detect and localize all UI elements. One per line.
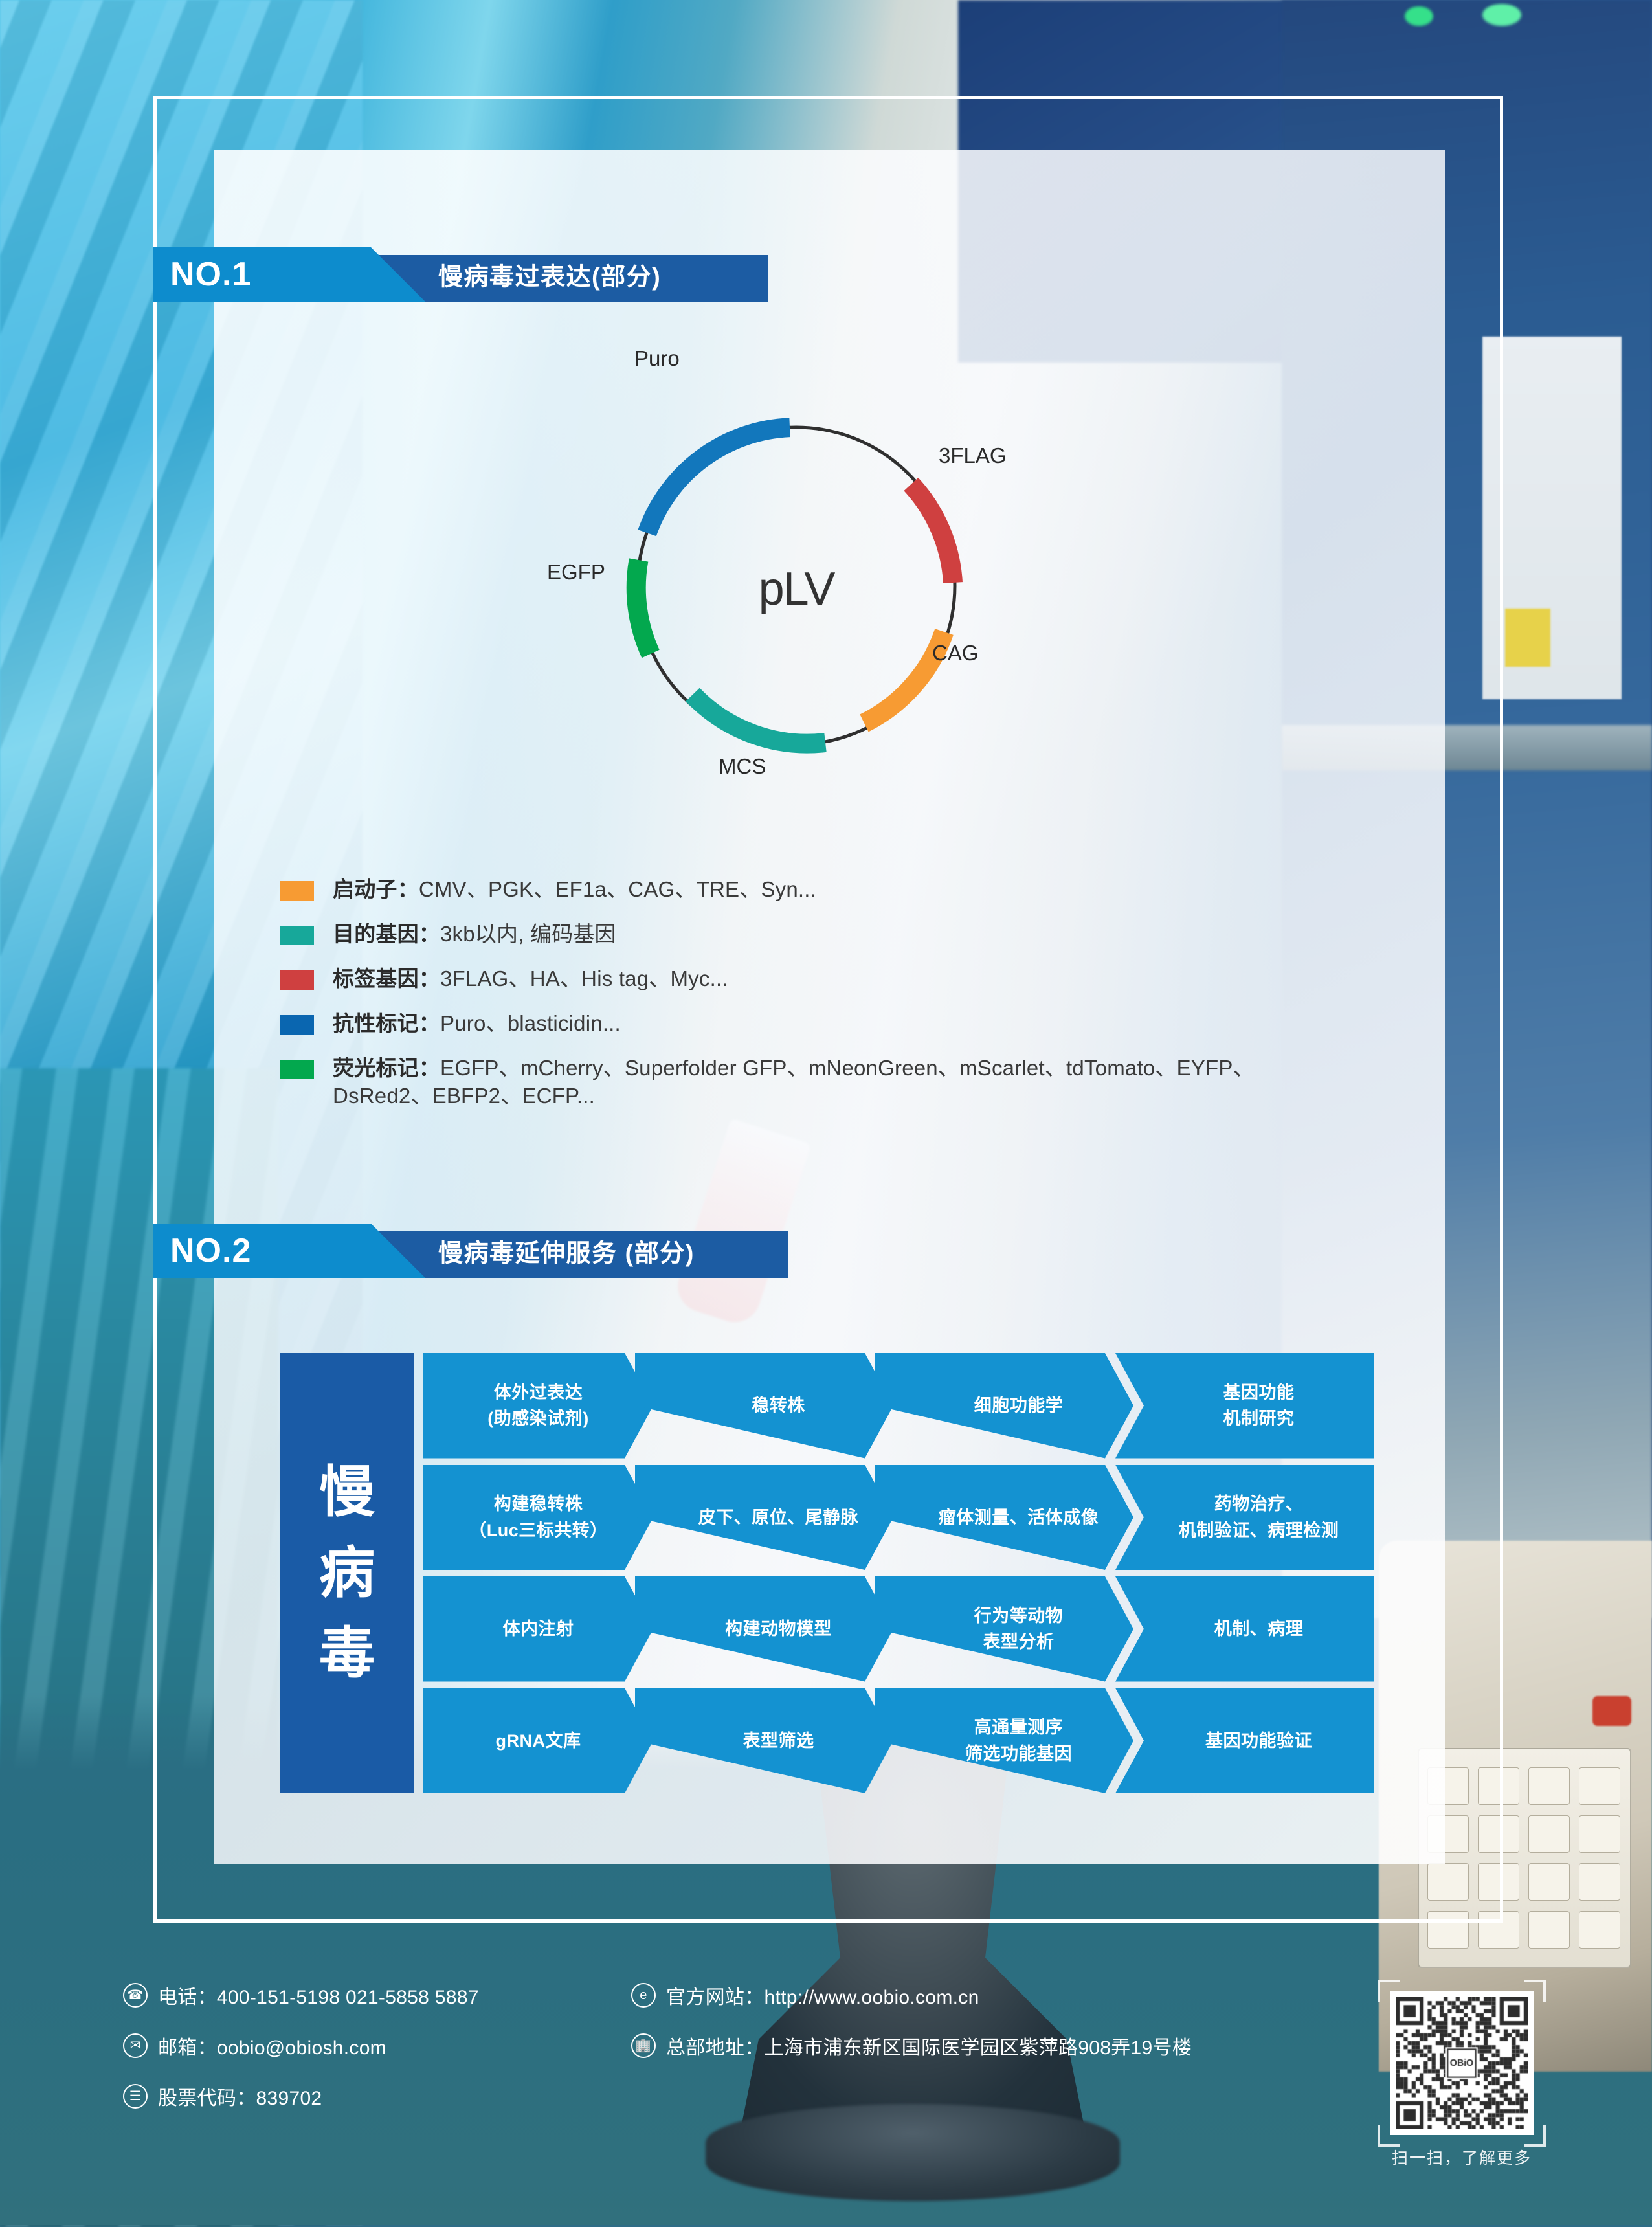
background-instrument-key	[1579, 1767, 1620, 1805]
flow-step-line: 基因功能	[1223, 1380, 1295, 1406]
background-yellow-box	[1505, 609, 1550, 667]
flow-step[interactable]: 瘤体测量、活体成像	[875, 1465, 1133, 1571]
flow-side-char-1: 慢	[319, 1452, 375, 1533]
flow-step-line: 机制、病理	[1214, 1616, 1304, 1642]
flow-step[interactable]: 表型筛选	[635, 1688, 893, 1794]
background-instrument-key	[1528, 1911, 1570, 1949]
background-instrument-key	[1528, 1767, 1570, 1805]
background-whiteboard	[1482, 337, 1622, 699]
legend-item: 启动子：CMV、PGK、EF1a、CAG、TRE、Syn...	[280, 875, 1380, 904]
plasmid-label-egfp: EGFP	[547, 560, 605, 585]
legend-label-promoter: 启动子：	[333, 877, 419, 901]
plasmid-feature-mcs	[693, 695, 825, 744]
footer-website-text[interactable]: 官方网站：http://www.oobio.com.cn	[666, 1981, 979, 2009]
flow-row: 构建稳转株（Luc三标共转）皮下、原位、尾静脉瘤体测量、活体成像药物治疗、机制验…	[423, 1465, 1374, 1571]
service-flow-chart: 慢 病 毒 体外过表达(助感染试剂)稳转株细胞功能学基因功能机制研究构建稳转株（…	[280, 1353, 1374, 1793]
footer-email-text: 邮箱：oobio@obiosh.com	[158, 2031, 386, 2060]
flow-step[interactable]: 体内注射	[423, 1576, 653, 1682]
legend-item: 抗性标记：Puro、blasticidin...	[280, 1009, 1380, 1038]
legend-text-fluorescent: 荧光标记：EGFP、mCherry、Superfolder GFP、mNeonG…	[333, 1054, 1343, 1111]
stock-icon: ☰	[123, 2084, 148, 2109]
flow-step-line: 机制验证、病理检测	[1179, 1517, 1339, 1544]
section-2-number: NO.2	[170, 1231, 251, 1270]
background-instrument-key	[1579, 1815, 1620, 1853]
qr-corner-brackets	[1378, 1980, 1546, 2169]
plasmid-svg	[570, 330, 1023, 848]
legend-label-fluorescent: 荧光标记：	[333, 1056, 440, 1080]
footer-address-text: 总部地址：上海市浦东新区国际医学园区紫萍路908弄19号楼	[666, 2031, 1192, 2060]
flow-step-line: 体内注射	[503, 1616, 574, 1642]
building-icon: 🏢	[631, 2033, 656, 2058]
flow-step[interactable]: 机制、病理	[1115, 1576, 1374, 1682]
legend-item: 荧光标记：EGFP、mCherry、Superfolder GFP、mNeonG…	[280, 1054, 1380, 1111]
legend-text-promoter: 启动子：CMV、PGK、EF1a、CAG、TRE、Syn...	[333, 875, 816, 904]
legend-value-tag-gene: 3FLAG、HA、His tag、Myc...	[440, 967, 728, 990]
flow-step-line: 构建稳转株	[494, 1491, 583, 1517]
qr-bracket-bl	[1378, 2125, 1400, 2147]
flow-step-line: （Luc三标共转）	[469, 1517, 608, 1544]
flow-step-line: 基因功能验证	[1205, 1728, 1312, 1754]
flow-step[interactable]: 体外过表达(助感染试剂)	[423, 1353, 653, 1459]
flow-step-line: 体外过表达	[494, 1380, 583, 1406]
flow-step[interactable]: 行为等动物表型分析	[875, 1576, 1133, 1682]
flow-step-line: 机制研究	[1223, 1405, 1295, 1432]
legend-label-target-gene: 目的基因：	[333, 922, 440, 946]
section-1-title: 慢病毒过表达(部分)	[438, 257, 661, 293]
footer-website-line[interactable]: e 官方网站：http://www.oobio.com.cn	[631, 1981, 1192, 2009]
section-2-title: 慢病毒延伸服务 (部分)	[438, 1233, 695, 1269]
legend-value-target-gene: 3kb以内, 编码基因	[440, 922, 616, 946]
phone-icon: ☎	[123, 1983, 148, 2008]
mail-icon: ✉	[123, 2033, 148, 2058]
flow-step-line: 高通量测序	[974, 1714, 1064, 1741]
background-instrument-key	[1528, 1815, 1570, 1853]
legend-text-resistance: 抗性标记：Puro、blasticidin...	[333, 1009, 621, 1038]
legend-value-promoter: CMV、PGK、EF1a、CAG、TRE、Syn...	[419, 877, 816, 901]
section-1-number: NO.1	[170, 255, 251, 294]
qr-code-block[interactable]: 扫一扫，了解更多	[1378, 1980, 1546, 2169]
qr-bracket-br	[1524, 2125, 1546, 2147]
flow-step[interactable]: 皮下、原位、尾静脉	[635, 1465, 893, 1571]
background-led-green-1	[1405, 6, 1433, 26]
plasmid-feature-3flag	[911, 484, 953, 583]
footer-stock-line: ☰ 股票代码：839702	[123, 2082, 479, 2110]
qr-bracket-tr	[1524, 1980, 1546, 2002]
legend-label-tag-gene: 标签基因：	[333, 967, 440, 990]
flow-step-line: 行为等动物	[974, 1603, 1064, 1629]
flow-step[interactable]: 构建稳转株（Luc三标共转）	[423, 1465, 653, 1571]
plasmid-label-mcs: MCS	[719, 754, 766, 779]
flow-step-line: 稳转株	[752, 1393, 805, 1419]
flow-step-line: 瘤体测量、活体成像	[939, 1505, 1099, 1531]
flow-step[interactable]: 基因功能验证	[1115, 1688, 1374, 1794]
footer-email-line: ✉ 邮箱：oobio@obiosh.com	[123, 2031, 479, 2060]
legend-swatch-tag-gene	[280, 970, 314, 990]
footer-address-line: 🏢 总部地址：上海市浦东新区国际医学园区紫萍路908弄19号楼	[631, 2031, 1192, 2060]
flow-step[interactable]: 高通量测序筛选功能基因	[875, 1688, 1133, 1794]
flow-row: 体外过表达(助感染试剂)稳转株细胞功能学基因功能机制研究	[423, 1353, 1374, 1459]
plasmid-label-puro: Puro	[634, 346, 680, 371]
flow-step[interactable]: gRNA文库	[423, 1688, 653, 1794]
plasmid-legend: 启动子：CMV、PGK、EF1a、CAG、TRE、Syn... 目的基因：3kb…	[280, 875, 1380, 1126]
footer-right-column: e 官方网站：http://www.oobio.com.cn 🏢 总部地址：上海…	[631, 1981, 1192, 2082]
flow-step-line: 表型筛选	[743, 1728, 814, 1754]
flow-step-line: 筛选功能基因	[965, 1741, 1072, 1767]
legend-swatch-promoter	[280, 881, 314, 901]
legend-item: 目的基因：3kb以内, 编码基因	[280, 920, 1380, 948]
flow-row: gRNA文库表型筛选高通量测序筛选功能基因基因功能验证	[423, 1688, 1374, 1794]
plasmid-map: pLV Puro 3FLAG CAG MCS EGFP	[570, 330, 1023, 848]
background-led-green-2	[1482, 4, 1521, 26]
background-instrument-key	[1579, 1911, 1620, 1949]
flow-step-line: 皮下、原位、尾静脉	[698, 1505, 859, 1531]
qr-bracket-tl	[1378, 1980, 1400, 2002]
legend-text-tag-gene: 标签基因：3FLAG、HA、His tag、Myc...	[333, 965, 728, 993]
footer-phone-text: 电话：400-151-5198 021-5858 5887	[158, 1981, 479, 2009]
flow-side-char-3: 毒	[319, 1613, 375, 1694]
flow-step[interactable]: 构建动物模型	[635, 1576, 893, 1682]
plasmid-feature-egfp	[636, 560, 651, 654]
legend-swatch-resistance	[280, 1015, 314, 1035]
footer-stock-text: 股票代码：839702	[158, 2082, 322, 2110]
legend-swatch-fluorescent	[280, 1060, 314, 1079]
flow-step-line: 细胞功能学	[974, 1393, 1064, 1419]
legend-text-target-gene: 目的基因：3kb以内, 编码基因	[333, 920, 616, 948]
footer-phone-line: ☎ 电话：400-151-5198 021-5858 5887	[123, 1981, 479, 2009]
plasmid-label-3flag: 3FLAG	[939, 443, 1007, 468]
flow-step-line: 药物治疗、	[1214, 1491, 1304, 1517]
flow-rows: 体外过表达(助感染试剂)稳转株细胞功能学基因功能机制研究构建稳转株（Luc三标共…	[423, 1353, 1374, 1793]
background-monitor-base	[706, 2104, 1120, 2201]
flow-step-line: gRNA文库	[496, 1728, 581, 1754]
background-instrument-key	[1528, 1863, 1570, 1901]
globe-icon: e	[631, 1983, 656, 2008]
plasmid-label-cag: CAG	[932, 641, 979, 666]
flow-step-line: 表型分析	[983, 1629, 1055, 1655]
legend-label-resistance: 抗性标记：	[333, 1011, 440, 1035]
footer-left-column: ☎ 电话：400-151-5198 021-5858 5887 ✉ 邮箱：oob…	[123, 1981, 479, 2132]
flow-side-char-2: 病	[319, 1533, 375, 1614]
legend-item: 标签基因：3FLAG、HA、His tag、Myc...	[280, 965, 1380, 993]
flow-row: 体内注射构建动物模型行为等动物表型分析机制、病理	[423, 1576, 1374, 1682]
section-header-2: NO.2 慢病毒延伸服务 (部分)	[153, 1224, 814, 1278]
flow-side-label: 慢 病 毒	[280, 1353, 414, 1793]
legend-value-resistance: Puro、blasticidin...	[440, 1011, 621, 1035]
flow-step-line: (助感染试剂)	[487, 1405, 588, 1432]
flow-step[interactable]: 药物治疗、机制验证、病理检测	[1115, 1465, 1374, 1571]
flow-step-line: 构建动物模型	[725, 1616, 832, 1642]
flow-step[interactable]: 细胞功能学	[875, 1353, 1133, 1459]
legend-value-fluorescent: EGFP、mCherry、Superfolder GFP、mNeonGreen、…	[333, 1056, 1255, 1108]
background-instrument-key	[1579, 1863, 1620, 1901]
plasmid-feature-puro	[647, 427, 790, 533]
flow-step[interactable]: 基因功能机制研究	[1115, 1353, 1374, 1459]
legend-swatch-target-gene	[280, 926, 314, 945]
flow-step[interactable]: 稳转株	[635, 1353, 893, 1459]
background-instrument-indicator	[1592, 1696, 1631, 1726]
section-header-1: NO.1 慢病毒过表达(部分)	[153, 247, 814, 302]
